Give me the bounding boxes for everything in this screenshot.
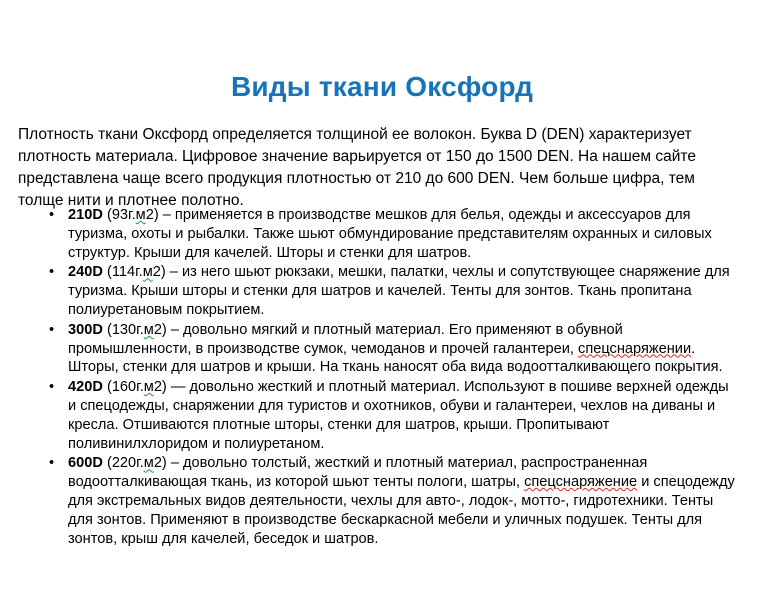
item-description: из него шьют рюкзаки, мешки, палатки, че… [68,264,730,318]
dash-separator: – [163,207,171,223]
density-code: 300D [68,322,103,338]
spellcheck-error-mark: спецснаряжении [578,341,691,357]
spellcheck-grammar-mark: м [144,322,154,338]
weight-value: (93г. [107,207,136,223]
dash-separator: – [171,455,179,471]
bullet-marker-icon: • [49,378,54,397]
spellcheck-grammar-mark: м [143,264,153,280]
weight-unit-suffix: 2) [146,207,159,223]
spellcheck-grammar-mark: м [144,379,154,395]
density-code: 210D [68,207,103,223]
bullet-marker-icon: • [49,206,54,225]
weight-unit-suffix: 2) [154,379,167,395]
weight-unit-suffix: 2) [153,264,166,280]
weight-unit-suffix: 2) [154,322,167,338]
list-item: •600D (220г.м2) – довольно толстый, жест… [36,454,736,548]
density-code: 600D [68,455,103,471]
intro-paragraph: Плотность ткани Оксфорд определяется тол… [18,124,736,212]
density-code: 420D [68,379,103,395]
item-description: довольно жесткий и плотный материал. Исп… [68,379,729,451]
dash-separator: – [170,264,178,280]
list-item: •300D (130г.м2) – довольно мягкий и плот… [36,321,736,377]
spellcheck-error-mark: спецснаряжение [524,474,637,490]
bullet-marker-icon: • [49,454,54,473]
weight-unit-suffix: 2) [154,455,167,471]
bullet-marker-icon: • [49,321,54,340]
density-code: 240D [68,264,103,280]
dash-separator: — [171,379,186,395]
weight-value: (114г. [107,264,143,280]
list-item: •210D (93г.м2) – применяется в производс… [36,206,736,262]
list-item: •420D (160г.м2) — довольно жесткий и пло… [36,378,736,453]
weight-value: (160г. [107,379,144,395]
spellcheck-grammar-mark: м [144,455,154,471]
weight-value: (130г. [107,322,144,338]
weight-value: (220г. [107,455,144,471]
dash-separator: – [171,322,179,338]
slide-canvas: Виды ткани Оксфорд Плотность ткани Оксфо… [0,0,764,616]
page-title: Виды ткани Оксфорд [0,71,764,103]
list-item: •240D (114г.м2) – из него шьют рюкзаки, … [36,263,736,319]
spellcheck-grammar-mark: м [136,207,146,223]
fabric-density-list: •210D (93г.м2) – применяется в производс… [36,206,736,549]
bullet-marker-icon: • [49,263,54,282]
